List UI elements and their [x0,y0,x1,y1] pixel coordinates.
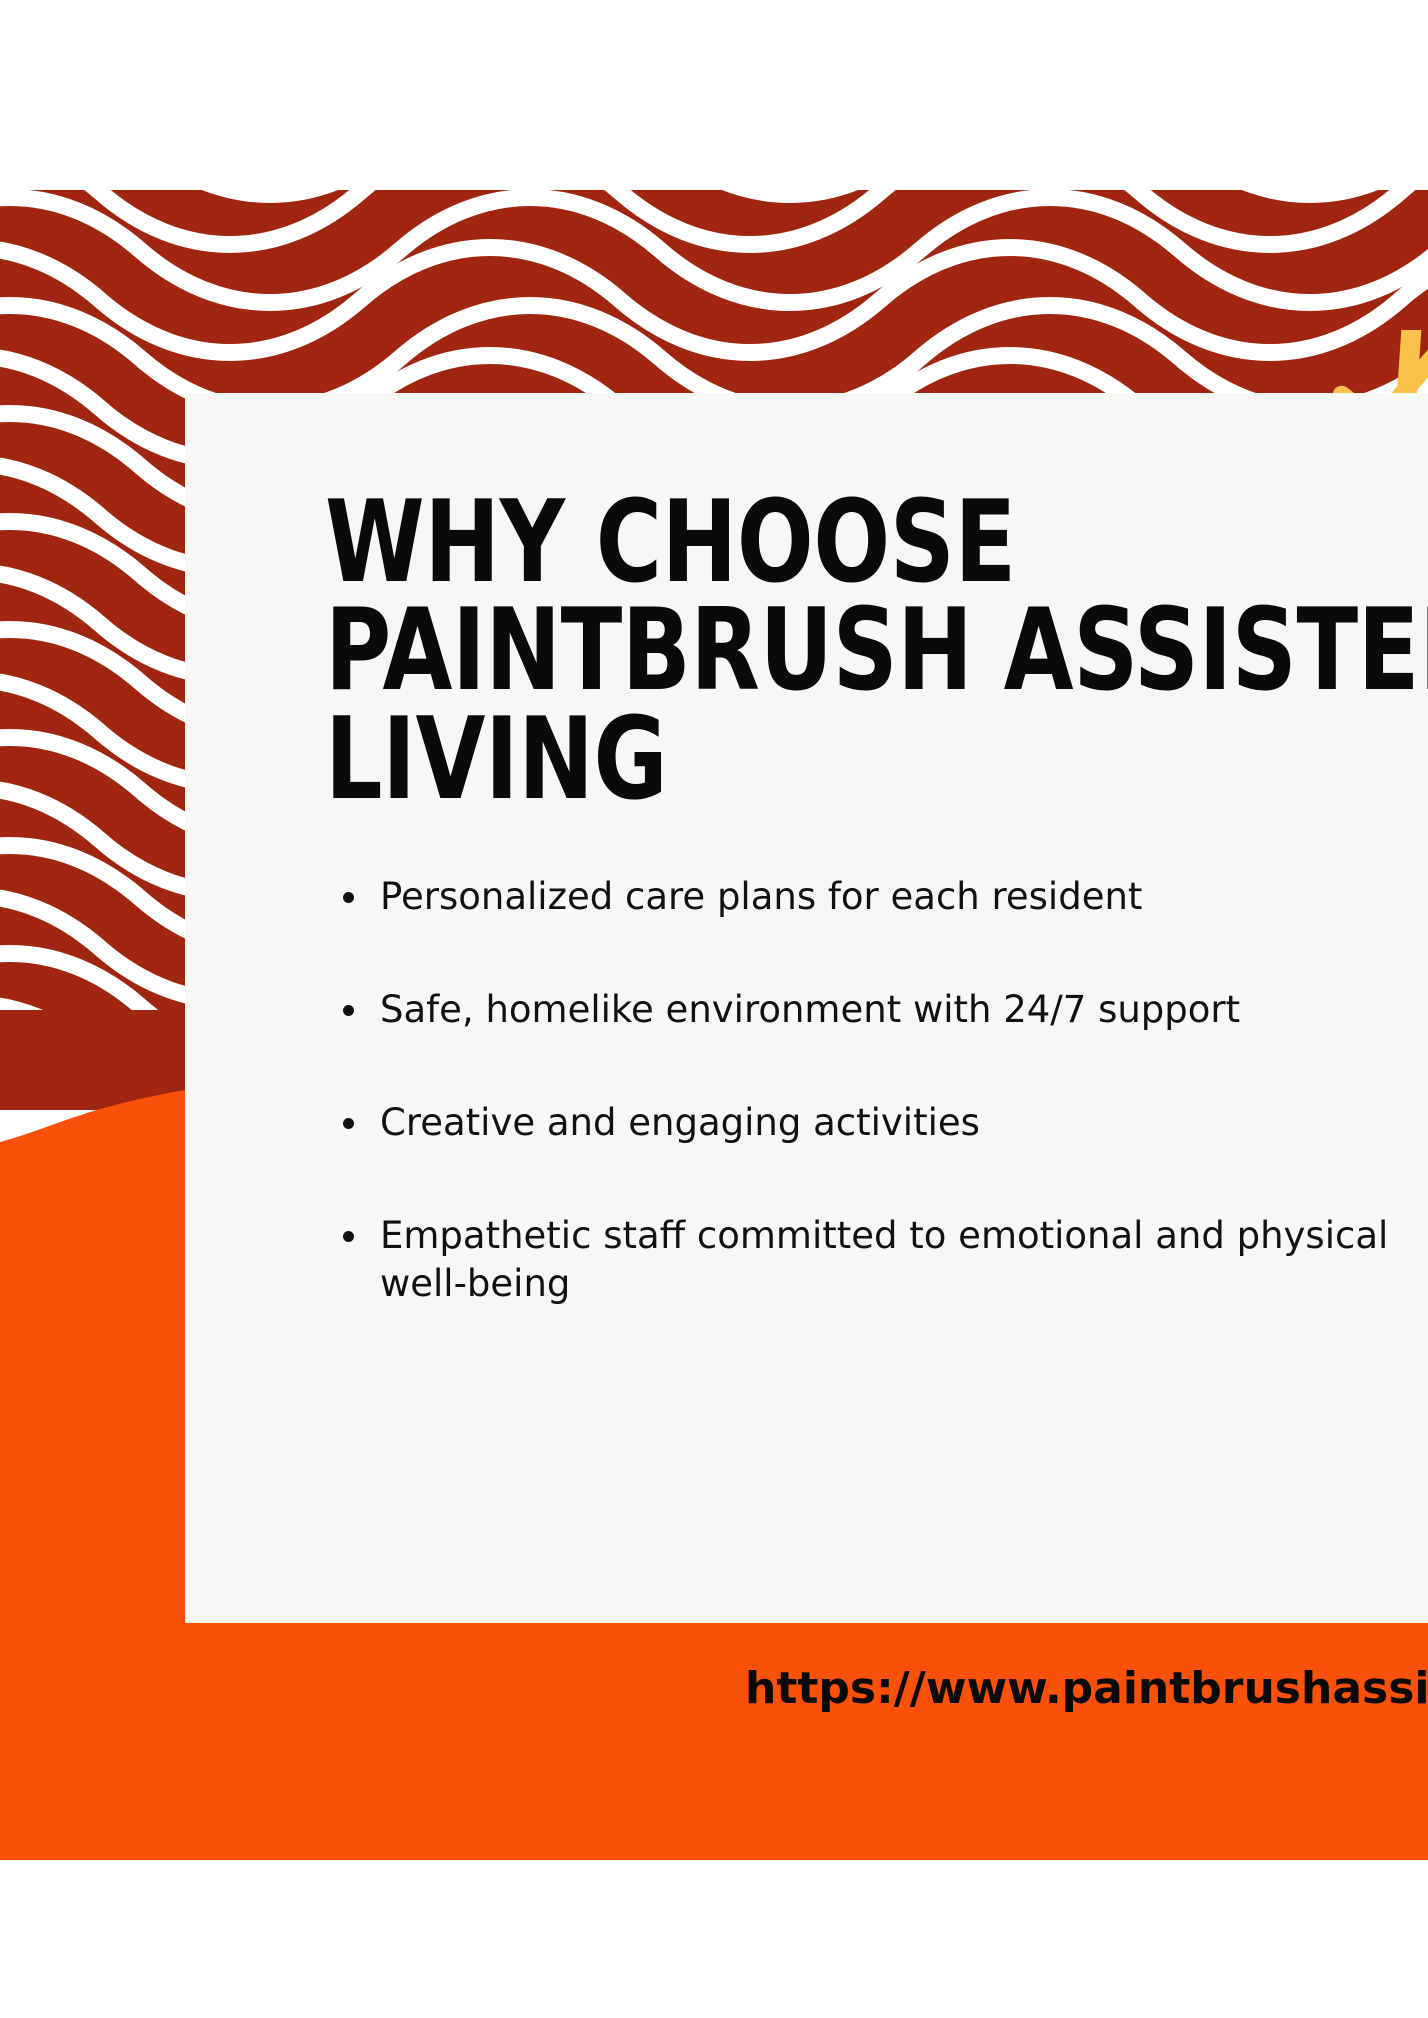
content-card: WHY CHOOSE PAINTBRUSH ASSISTED LIVING Pe… [185,393,1428,1623]
list-item: Personalized care plans for each residen… [325,873,1428,921]
card-content: WHY CHOOSE PAINTBRUSH ASSISTED LIVING Pe… [185,393,1428,1623]
poster-canvas: WHY CHOOSE PAINTBRUSH ASSISTED LIVING Pe… [0,0,1428,2018]
list-item: Creative and engaging activities [325,1099,1428,1147]
benefits-list: Personalized care plans for each residen… [325,873,1428,1373]
list-item: Empathetic staff committed to emotional … [325,1212,1428,1308]
website-url[interactable]: https://www.paintbrushassistedliving.com [745,1663,1428,1714]
page-title: WHY CHOOSE PAINTBRUSH ASSISTED LIVING [325,488,1269,813]
list-item: Safe, homelike environment with 24/7 sup… [325,986,1428,1034]
